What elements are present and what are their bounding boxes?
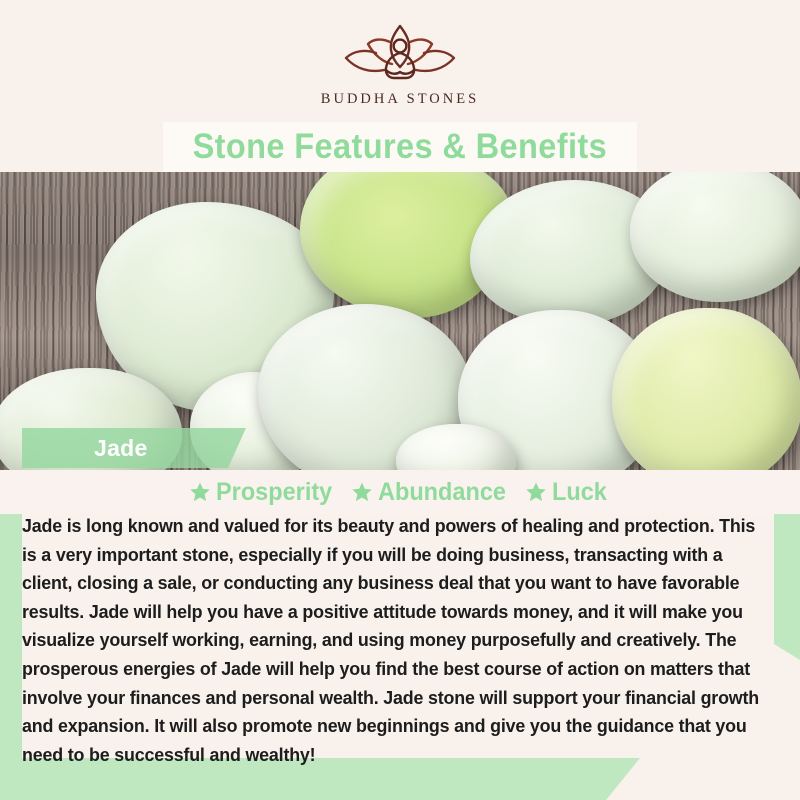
title-banner: Stone Features & Benefits bbox=[163, 122, 637, 172]
page-title: Stone Features & Benefits bbox=[193, 127, 607, 167]
brand-logo: BUDDHA STONES bbox=[321, 22, 479, 108]
star-icon bbox=[189, 481, 211, 503]
brand-name: BUDDHA STONES bbox=[321, 91, 479, 108]
star-icon bbox=[351, 481, 373, 503]
jade-stone bbox=[612, 308, 800, 470]
benefit-label: Luck bbox=[552, 478, 607, 507]
benefit-label: Abundance bbox=[378, 478, 506, 507]
benefit-item: Luck bbox=[525, 478, 610, 507]
accent-bar-left-lower bbox=[0, 488, 22, 760]
benefit-item: Abundance bbox=[351, 478, 514, 507]
description-text: Jade is long known and valued for its be… bbox=[22, 512, 759, 769]
stone-name-label: Jade bbox=[94, 435, 148, 462]
benefits-row: Prosperity Abundance Luck bbox=[0, 470, 800, 514]
lotus-meditation-icon bbox=[336, 22, 464, 84]
star-icon bbox=[525, 481, 547, 503]
benefit-item: Prosperity bbox=[189, 478, 340, 507]
stone-name-banner: Jade bbox=[22, 428, 246, 468]
stone-photo: Jade bbox=[0, 172, 800, 470]
benefit-label: Prosperity bbox=[216, 478, 332, 507]
